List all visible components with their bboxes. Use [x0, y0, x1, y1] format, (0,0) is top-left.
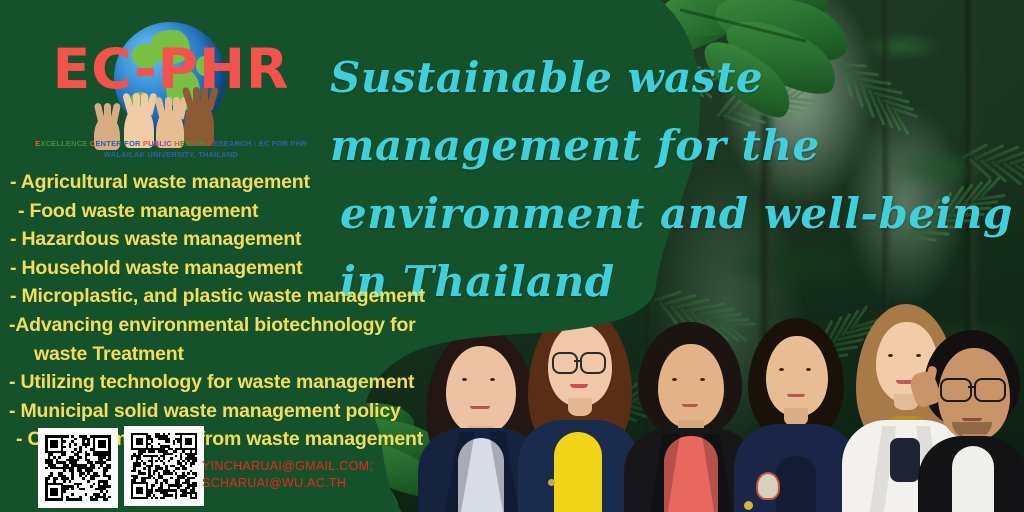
topic-list: - Agricultural waste management- Food wa…	[4, 168, 474, 454]
topic-list-item: - Utilizing technology for waste managem…	[4, 368, 474, 397]
team-member	[918, 326, 1024, 512]
logo-subtitle: EXCELLENCE CENTER FOR PUBLIC HEALTH RESE…	[26, 138, 316, 160]
topic-list-item: waste Treatment	[4, 340, 474, 369]
ec-phr-logo: EC-PHR EXCELLENCE CENTER FOR PUBLIC HEAL…	[26, 14, 316, 144]
qr-code-left[interactable]	[38, 428, 118, 508]
topic-list-item: - Agricultural waste management	[4, 168, 474, 197]
qr-code-right[interactable]	[124, 426, 204, 506]
topic-list-item: - Food waste management	[4, 197, 474, 226]
contact-email-1[interactable]: YINCHARUAI@GMAIL.COM;	[202, 458, 373, 475]
topic-list-item: - Municipal solid waste management polic…	[4, 397, 474, 426]
logo-subtitle-line1: EXCELLENCE CENTER FOR PUBLIC HEALTH RESE…	[26, 138, 316, 149]
contact-email-2[interactable]: SCHARUAI@WU.AC.TH	[202, 475, 373, 492]
topic-list-item: - Microplastic, and plastic waste manage…	[4, 282, 474, 311]
poster-canvas: EC-PHR EXCELLENCE CENTER FOR PUBLIC HEAL…	[0, 0, 1024, 512]
page-title-line1: Sustainable waste management for the	[330, 44, 1020, 180]
logo-acronym: EC-PHR	[26, 42, 316, 97]
uniform-emblem	[756, 472, 780, 500]
team-member	[734, 306, 858, 512]
topic-list-item: - Hazardous waste management	[4, 225, 474, 254]
topic-list-item: - Household waste management	[4, 254, 474, 283]
contact-emails: YINCHARUAI@GMAIL.COM; SCHARUAI@WU.AC.TH	[202, 458, 373, 492]
topic-list-item: -Advancing environmental biotechnology f…	[4, 311, 474, 340]
logo-subtitle-line2: WALAILAK UNIVERSITY, THAILAND	[26, 149, 316, 160]
